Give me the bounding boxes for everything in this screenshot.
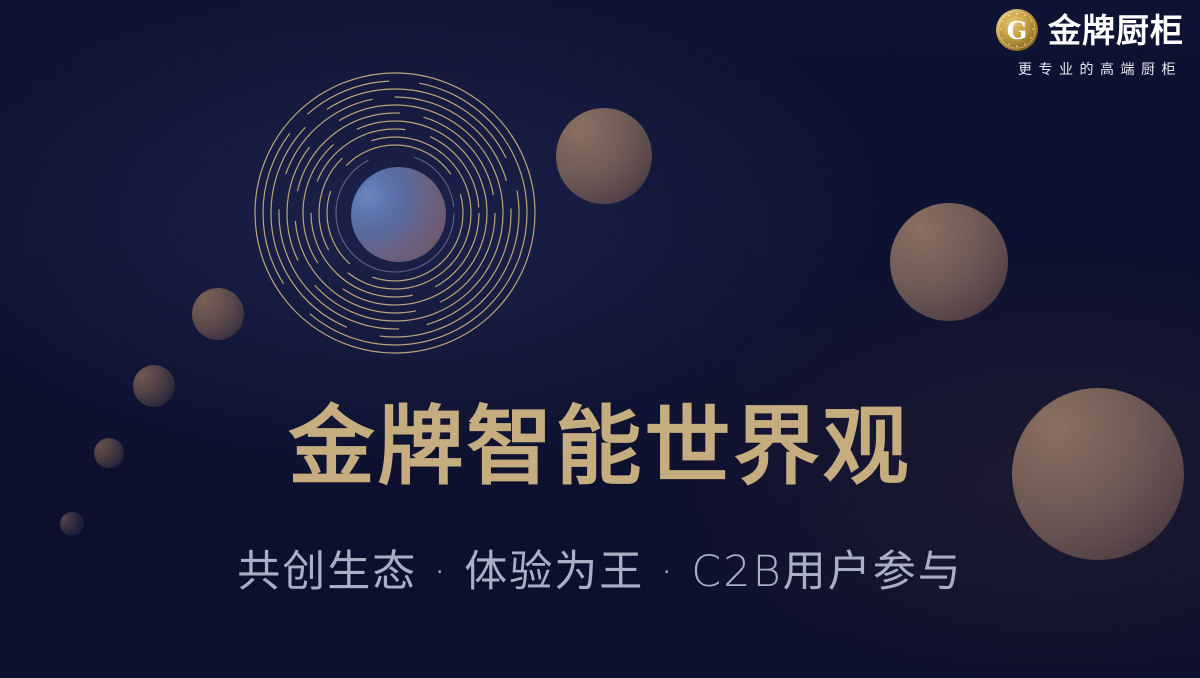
sphere-upper-mid [556,108,652,204]
hero-subline: 共创生态 · 体验为王 · C2B用户参与 [0,551,1200,594]
sphere-right-upper [890,203,1008,321]
logo-row: G 金牌厨柜 [995,8,1184,52]
hero-headline: 金牌智能世界观 [0,404,1200,490]
brand-logo-lockup[interactable]: G 金牌厨柜 更专业的高端厨柜 [995,8,1184,79]
sphere-left-two [133,365,175,407]
sphere-left-one [192,288,244,340]
core-gradient-sphere [351,167,446,262]
brand-tagline: 更专业的高端厨柜 [995,59,1184,79]
jinpai-g-medallion-logo-icon: G [995,8,1039,52]
poster-canvas: G 金牌厨柜 更专业的高端厨柜 金牌智能世界观 共创生态 · 体验为王 · C2… [0,0,1200,678]
sphere-left-four [60,512,84,536]
logo-letter-g: G [1007,16,1028,45]
brand-wordmark: 金牌厨柜 [1048,14,1184,47]
